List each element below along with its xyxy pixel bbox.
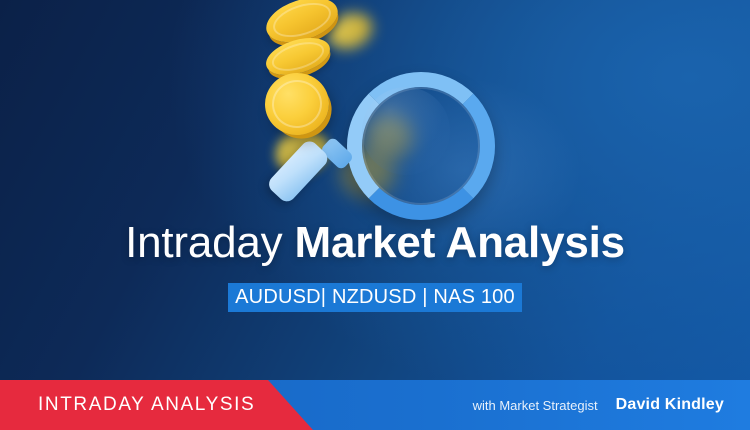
footer-category-label: INTRADAY ANALYSIS [38,380,255,430]
coin-gold-right-icon [262,70,332,138]
footer-byline: with Market Strategist David Kindley [473,380,724,430]
footer-with-label: with Market Strategist [473,398,598,413]
footer-bar: INTRADAY ANALYSIS with Market Strategist… [0,380,750,430]
intraday-market-analysis-banner: Intraday Market Analysis AUDUSD| NZDUSD … [0,0,750,430]
page-title: Intraday Market Analysis [0,218,750,268]
title-bold-part: Market Analysis [295,218,625,267]
hero-illustration [265,0,510,205]
instruments-badge: AUDUSD| NZDUSD | NAS 100 [228,283,522,312]
instruments-badge-label: AUDUSD| NZDUSD | NAS 100 [235,286,515,309]
magnifier-lens-icon [362,87,450,175]
footer-analyst-name: David Kindley [616,396,724,414]
title-light-part: Intraday [125,218,294,267]
